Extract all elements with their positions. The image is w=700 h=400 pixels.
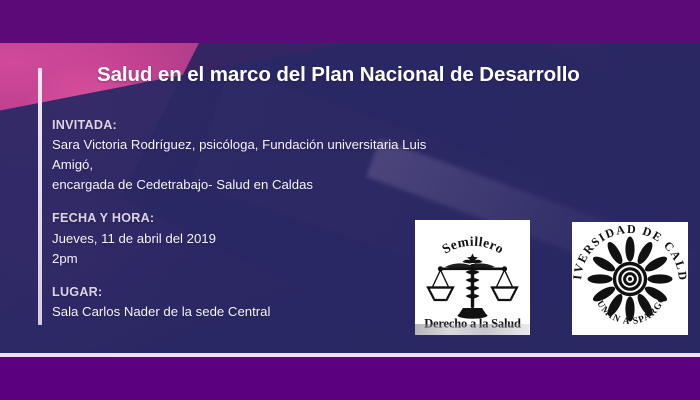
- bottom-hairline-rule: [0, 353, 700, 357]
- scales-of-justice-caduceus-icon: Semillero: [415, 220, 530, 335]
- page-title: Salud en el marco del Plan Nacional de D…: [97, 62, 677, 88]
- value-fecha: Jueves, 11 de abril del 2019: [52, 229, 442, 249]
- semillero-derecho-a-la-salud-logo: Semillero: [415, 220, 530, 335]
- universidad-de-caldas-logo: UNIVERSIDAD DE CALDAS LUMIN A SPARGO: [572, 222, 688, 335]
- bottom-purple-band: [0, 357, 700, 400]
- top-purple-band: [0, 0, 700, 43]
- radial-sun-icon: UNIVERSIDAD DE CALDAS LUMIN A SPARGO: [572, 222, 688, 335]
- label-invitada: INVITADA:: [52, 116, 442, 134]
- detail-group-invitada: INVITADA: Sara Victoria Rodríguez, psicó…: [52, 116, 442, 195]
- svg-text:Derecho a la Salud: Derecho a la Salud: [424, 317, 521, 331]
- vertical-accent-rule: [38, 68, 42, 325]
- event-details: INVITADA: Sara Victoria Rodríguez, psicó…: [52, 116, 442, 322]
- value-hora: 2pm: [52, 249, 442, 269]
- event-poster: Salud en el marco del Plan Nacional de D…: [0, 0, 700, 400]
- detail-group-fecha-hora: FECHA Y HORA: Jueves, 11 de abril del 20…: [52, 209, 442, 268]
- value-invitada-line-1: Sara Victoria Rodríguez, psicóloga, Fund…: [52, 135, 442, 175]
- label-fecha-y-hora: FECHA Y HORA:: [52, 209, 442, 227]
- detail-group-lugar: LUGAR: Sala Carlos Nader de la sede Cent…: [52, 283, 442, 322]
- value-invitada-line-2: encargada de Cedetrabajo- Salud en Calda…: [52, 175, 442, 195]
- value-lugar: Sala Carlos Nader de la sede Central: [52, 302, 442, 322]
- label-lugar: LUGAR:: [52, 283, 442, 301]
